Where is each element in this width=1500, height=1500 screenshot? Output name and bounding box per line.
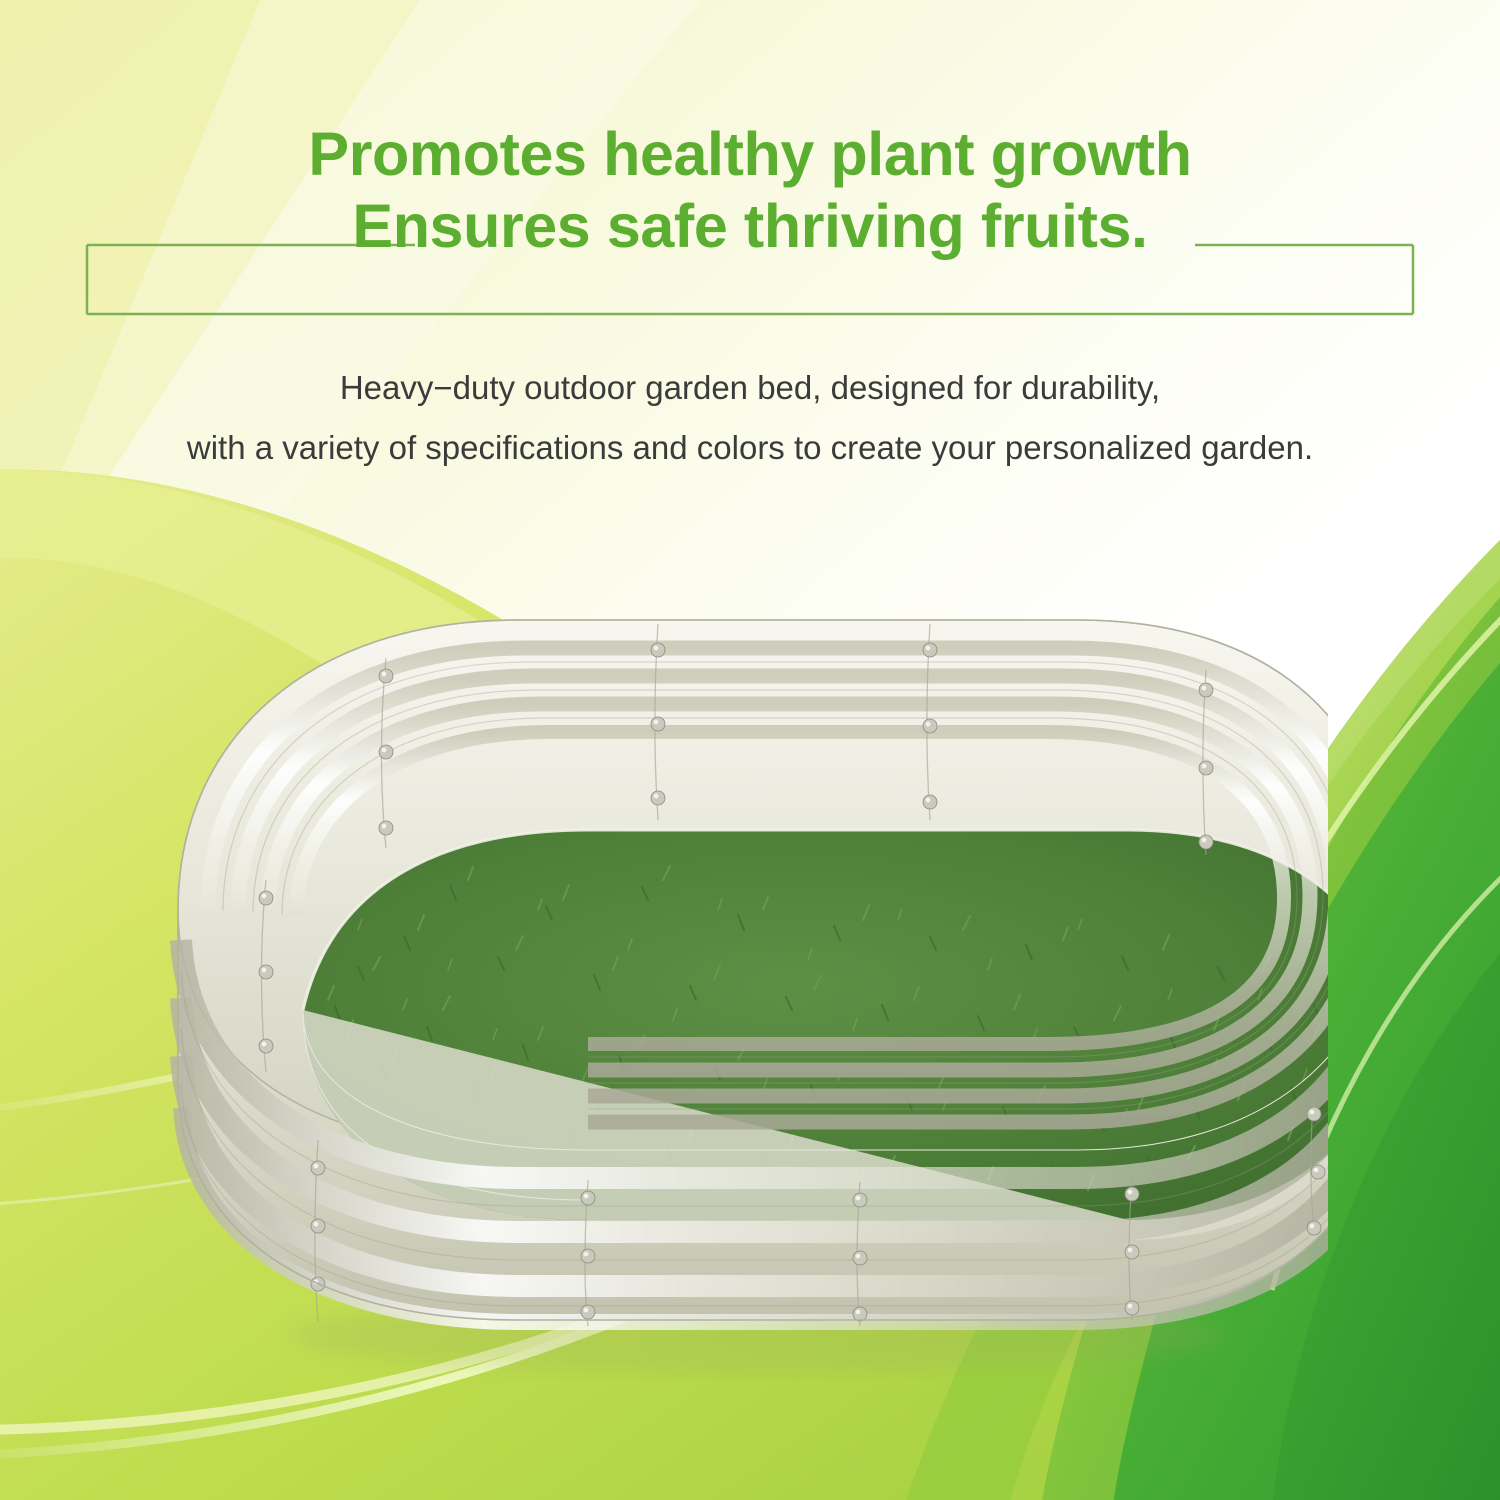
headline: Promotes healthy plant growth Ensures sa… — [0, 118, 1500, 262]
product-image — [118, 580, 1328, 1380]
headline-line-2: Ensures safe thriving fruits. — [0, 190, 1500, 262]
subtitle: Heavy−duty outdoor garden bed, designed … — [0, 358, 1500, 478]
headline-line-1: Promotes healthy plant growth — [0, 118, 1500, 190]
subtitle-line-1: Heavy−duty outdoor garden bed, designed … — [0, 358, 1500, 418]
subtitle-line-2: with a variety of specifications and col… — [0, 418, 1500, 478]
product-banner: Promotes healthy plant growth Ensures sa… — [0, 0, 1500, 1500]
